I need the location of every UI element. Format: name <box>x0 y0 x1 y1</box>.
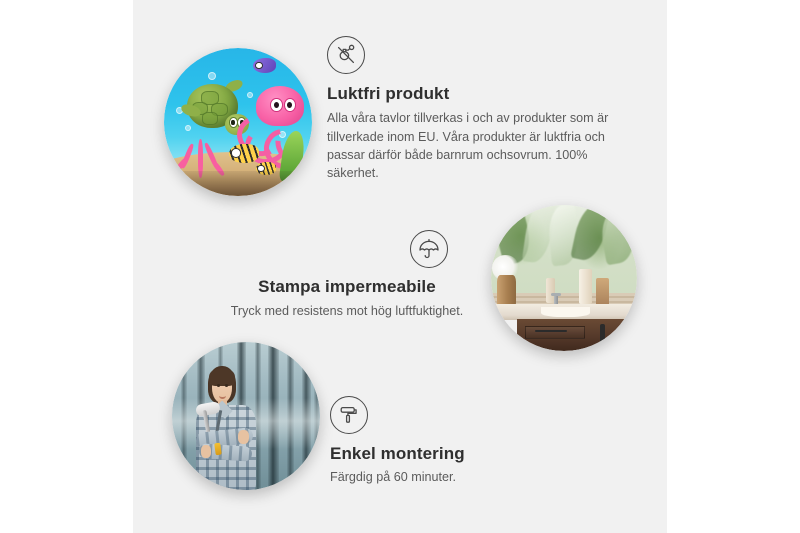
feature-easy-mounting: Enkel montering Färgdig på 60 minuter. <box>330 396 600 487</box>
underwater-cartoon-photo <box>164 48 312 196</box>
sea-foreground-shadow <box>164 171 312 196</box>
feature-title: Stampa impermeabile <box>222 276 472 297</box>
feature-description: Färgdig på 60 minuter. <box>330 468 600 486</box>
umbrella-icon <box>410 230 448 268</box>
feature-description: Tryck med resistens mot hög luftfuktighe… <box>222 302 472 320</box>
feature-description: Alla våra tavlor tillverkas i och av pro… <box>327 109 623 182</box>
paint-roller-icon <box>330 396 368 434</box>
purple-fish-icon <box>253 58 277 73</box>
sink <box>541 307 591 317</box>
bathroom-leaf-wallpaper-photo <box>491 205 637 351</box>
feature-title: Enkel montering <box>330 443 600 464</box>
bottle <box>579 269 592 304</box>
yellow-fish-icon <box>229 144 259 163</box>
woman-figure <box>181 366 273 490</box>
feature-odour-free: Luktfri produkt Alla våra tavlor tillver… <box>327 36 623 182</box>
infographic-canvas: Luktfri produkt Alla våra tavlor tillver… <box>0 0 800 533</box>
vanity-cabinet <box>517 319 637 351</box>
towel <box>596 278 609 307</box>
feature-title: Luktfri produkt <box>327 83 623 104</box>
no-fragrance-icon <box>327 36 365 74</box>
woman-paint-roller-forest-photo <box>172 342 320 490</box>
feature-waterproof-print: Stampa impermeabile Tryck med resistens … <box>222 230 472 321</box>
